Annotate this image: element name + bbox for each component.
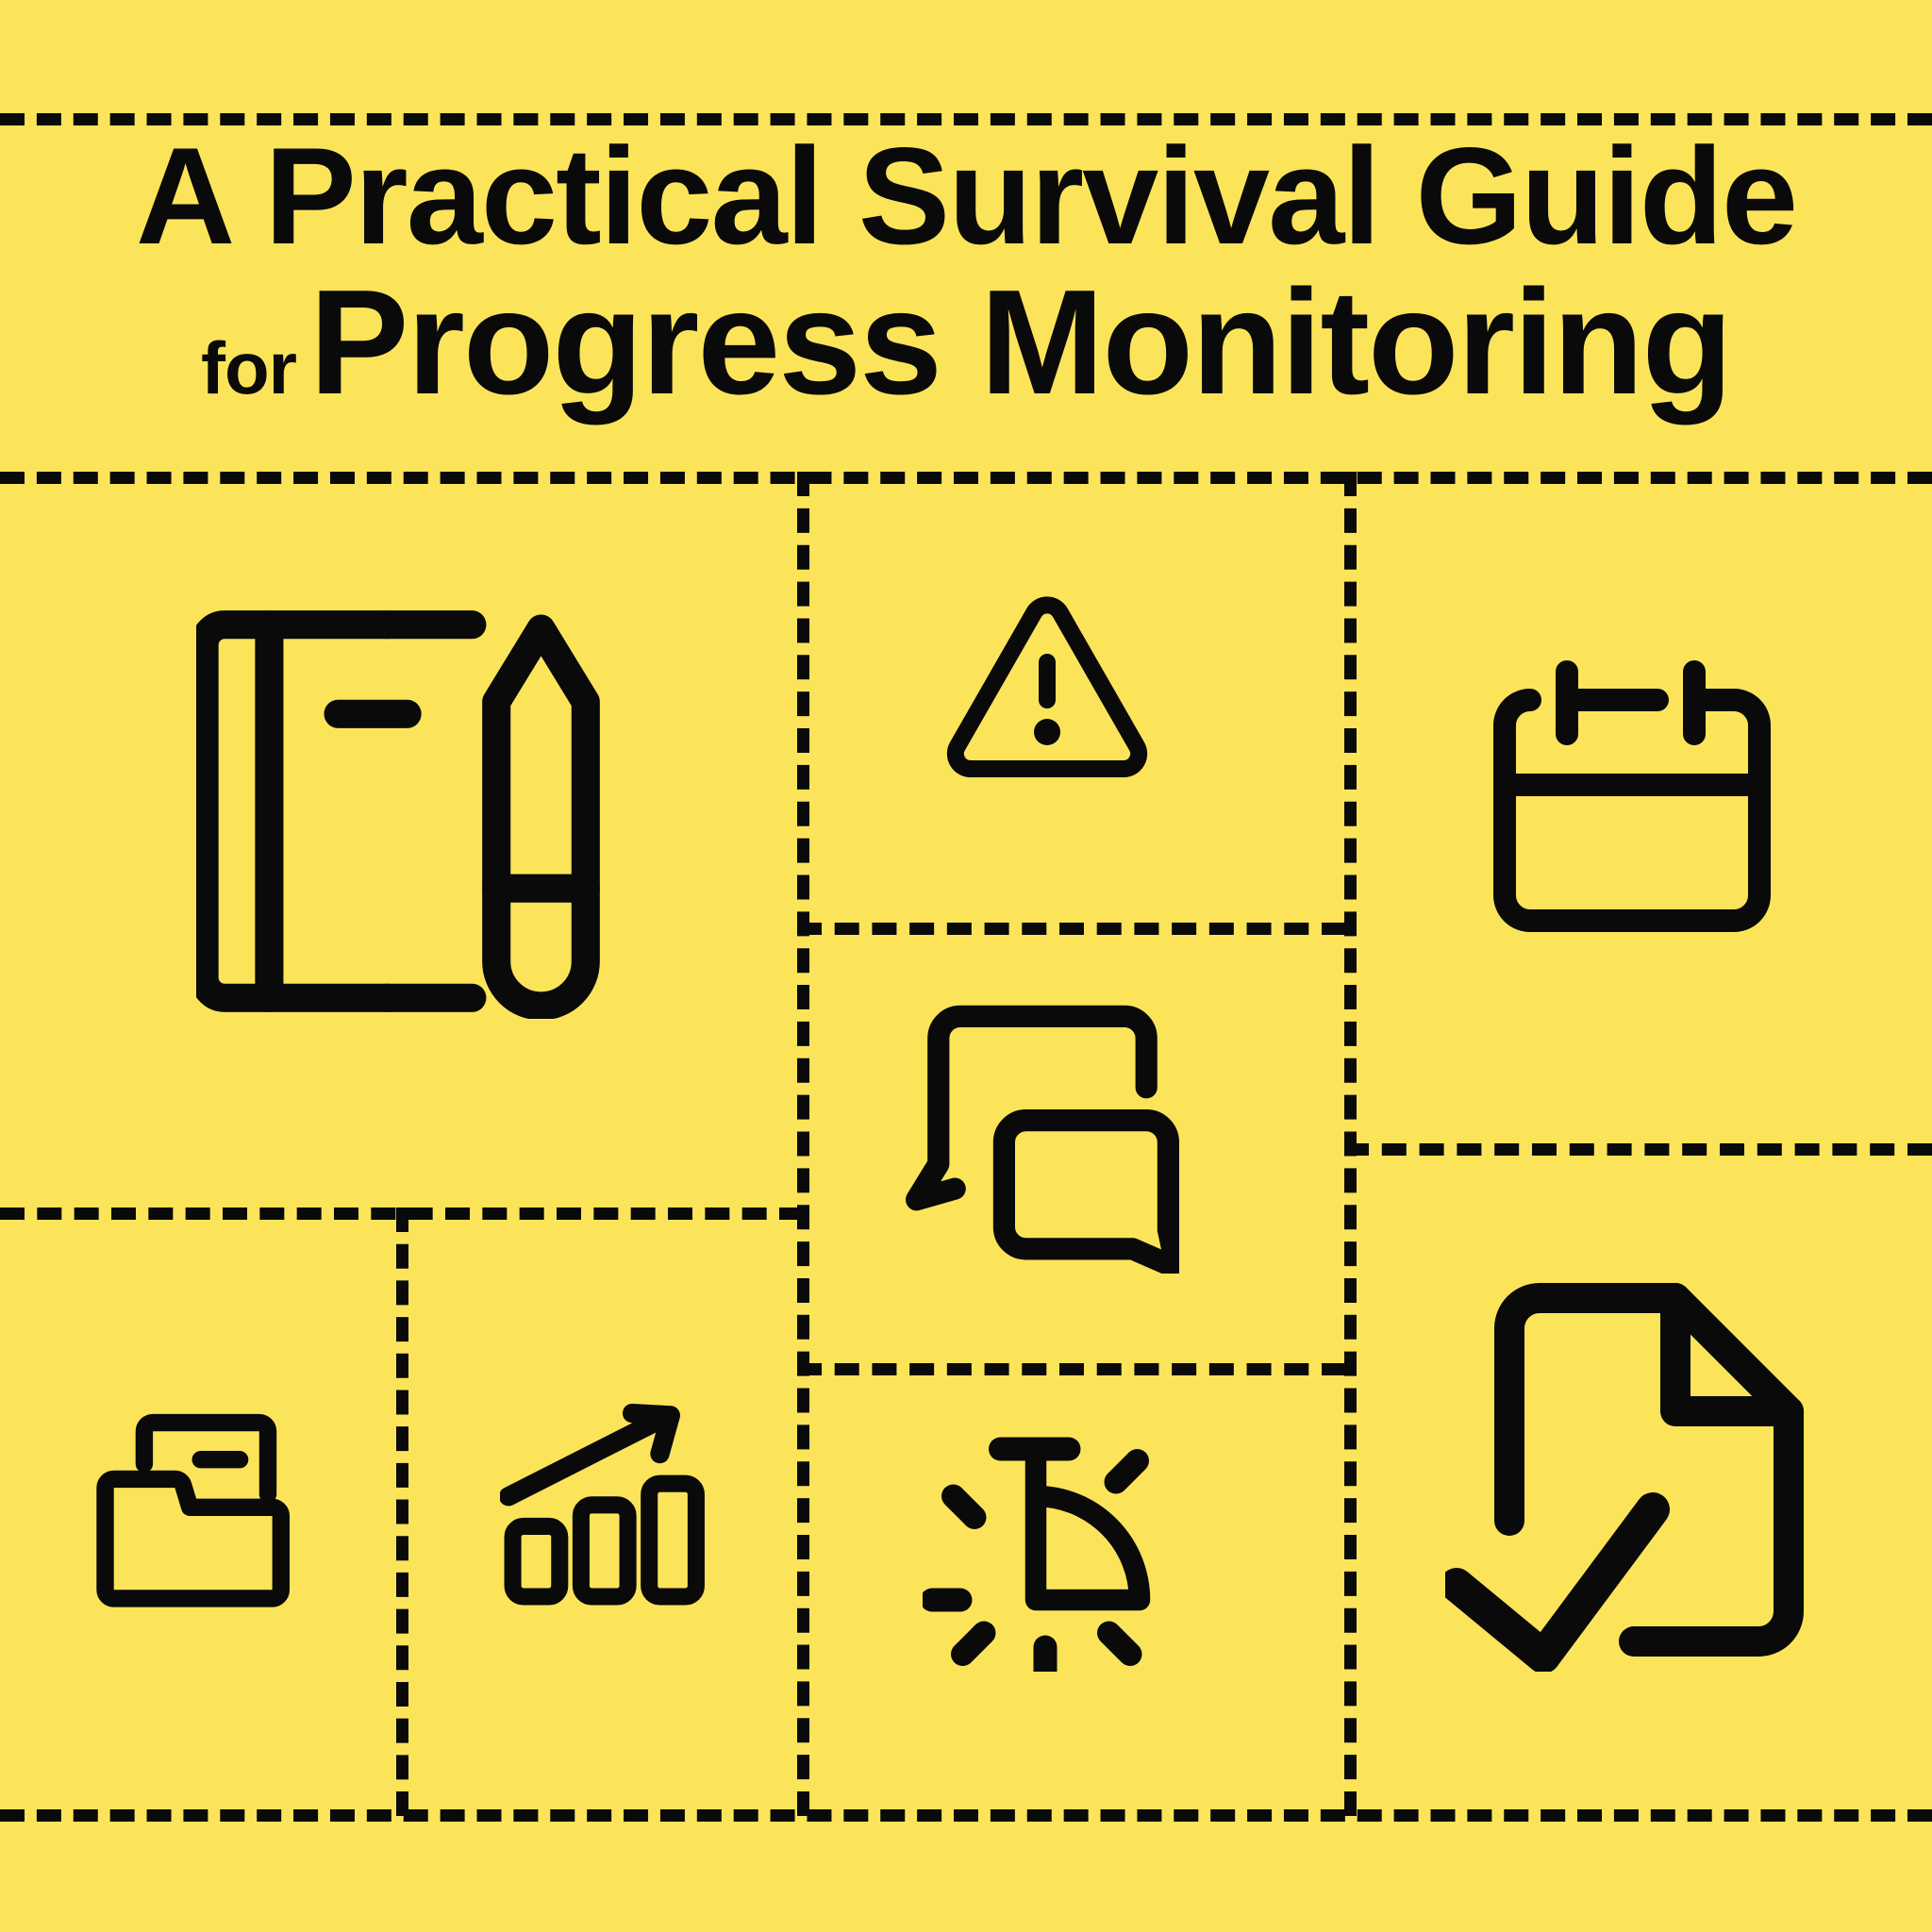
grid-hline-mid-center (797, 923, 1346, 935)
warning-triangle-icon (945, 594, 1149, 779)
grid-hline-center-lower (797, 1363, 1346, 1375)
title-for-word: for (201, 326, 296, 409)
calendar-icon (1491, 660, 1774, 943)
grid-hline-bottom (0, 1809, 1932, 1822)
grid-vline-center-left (797, 472, 809, 1816)
speech-bubbles-icon (906, 1000, 1179, 1274)
timer-progress-icon (923, 1415, 1168, 1672)
page-title: A Practical Survival Guide forProgress M… (0, 132, 1932, 412)
title-line-1: A Practical Survival Guide (0, 132, 1932, 260)
growth-bar-chart-icon (500, 1383, 713, 1606)
poster-canvas: A Practical Survival Guide forProgress M… (0, 0, 1932, 1932)
title-main-phrase: Progress Monitoring (309, 259, 1731, 425)
notebook-and-pencil-icon (196, 604, 602, 1019)
title-line-2: forProgress Monitoring (0, 274, 1932, 412)
grid-vline-center-right (1344, 472, 1357, 1816)
grid-vline-left-inner (396, 1207, 408, 1816)
grid-hline-title-bottom (0, 472, 1932, 484)
document-check-icon (1445, 1275, 1823, 1672)
folder-document-icon (94, 1407, 311, 1624)
grid-hline-mid-right (1344, 1143, 1932, 1156)
